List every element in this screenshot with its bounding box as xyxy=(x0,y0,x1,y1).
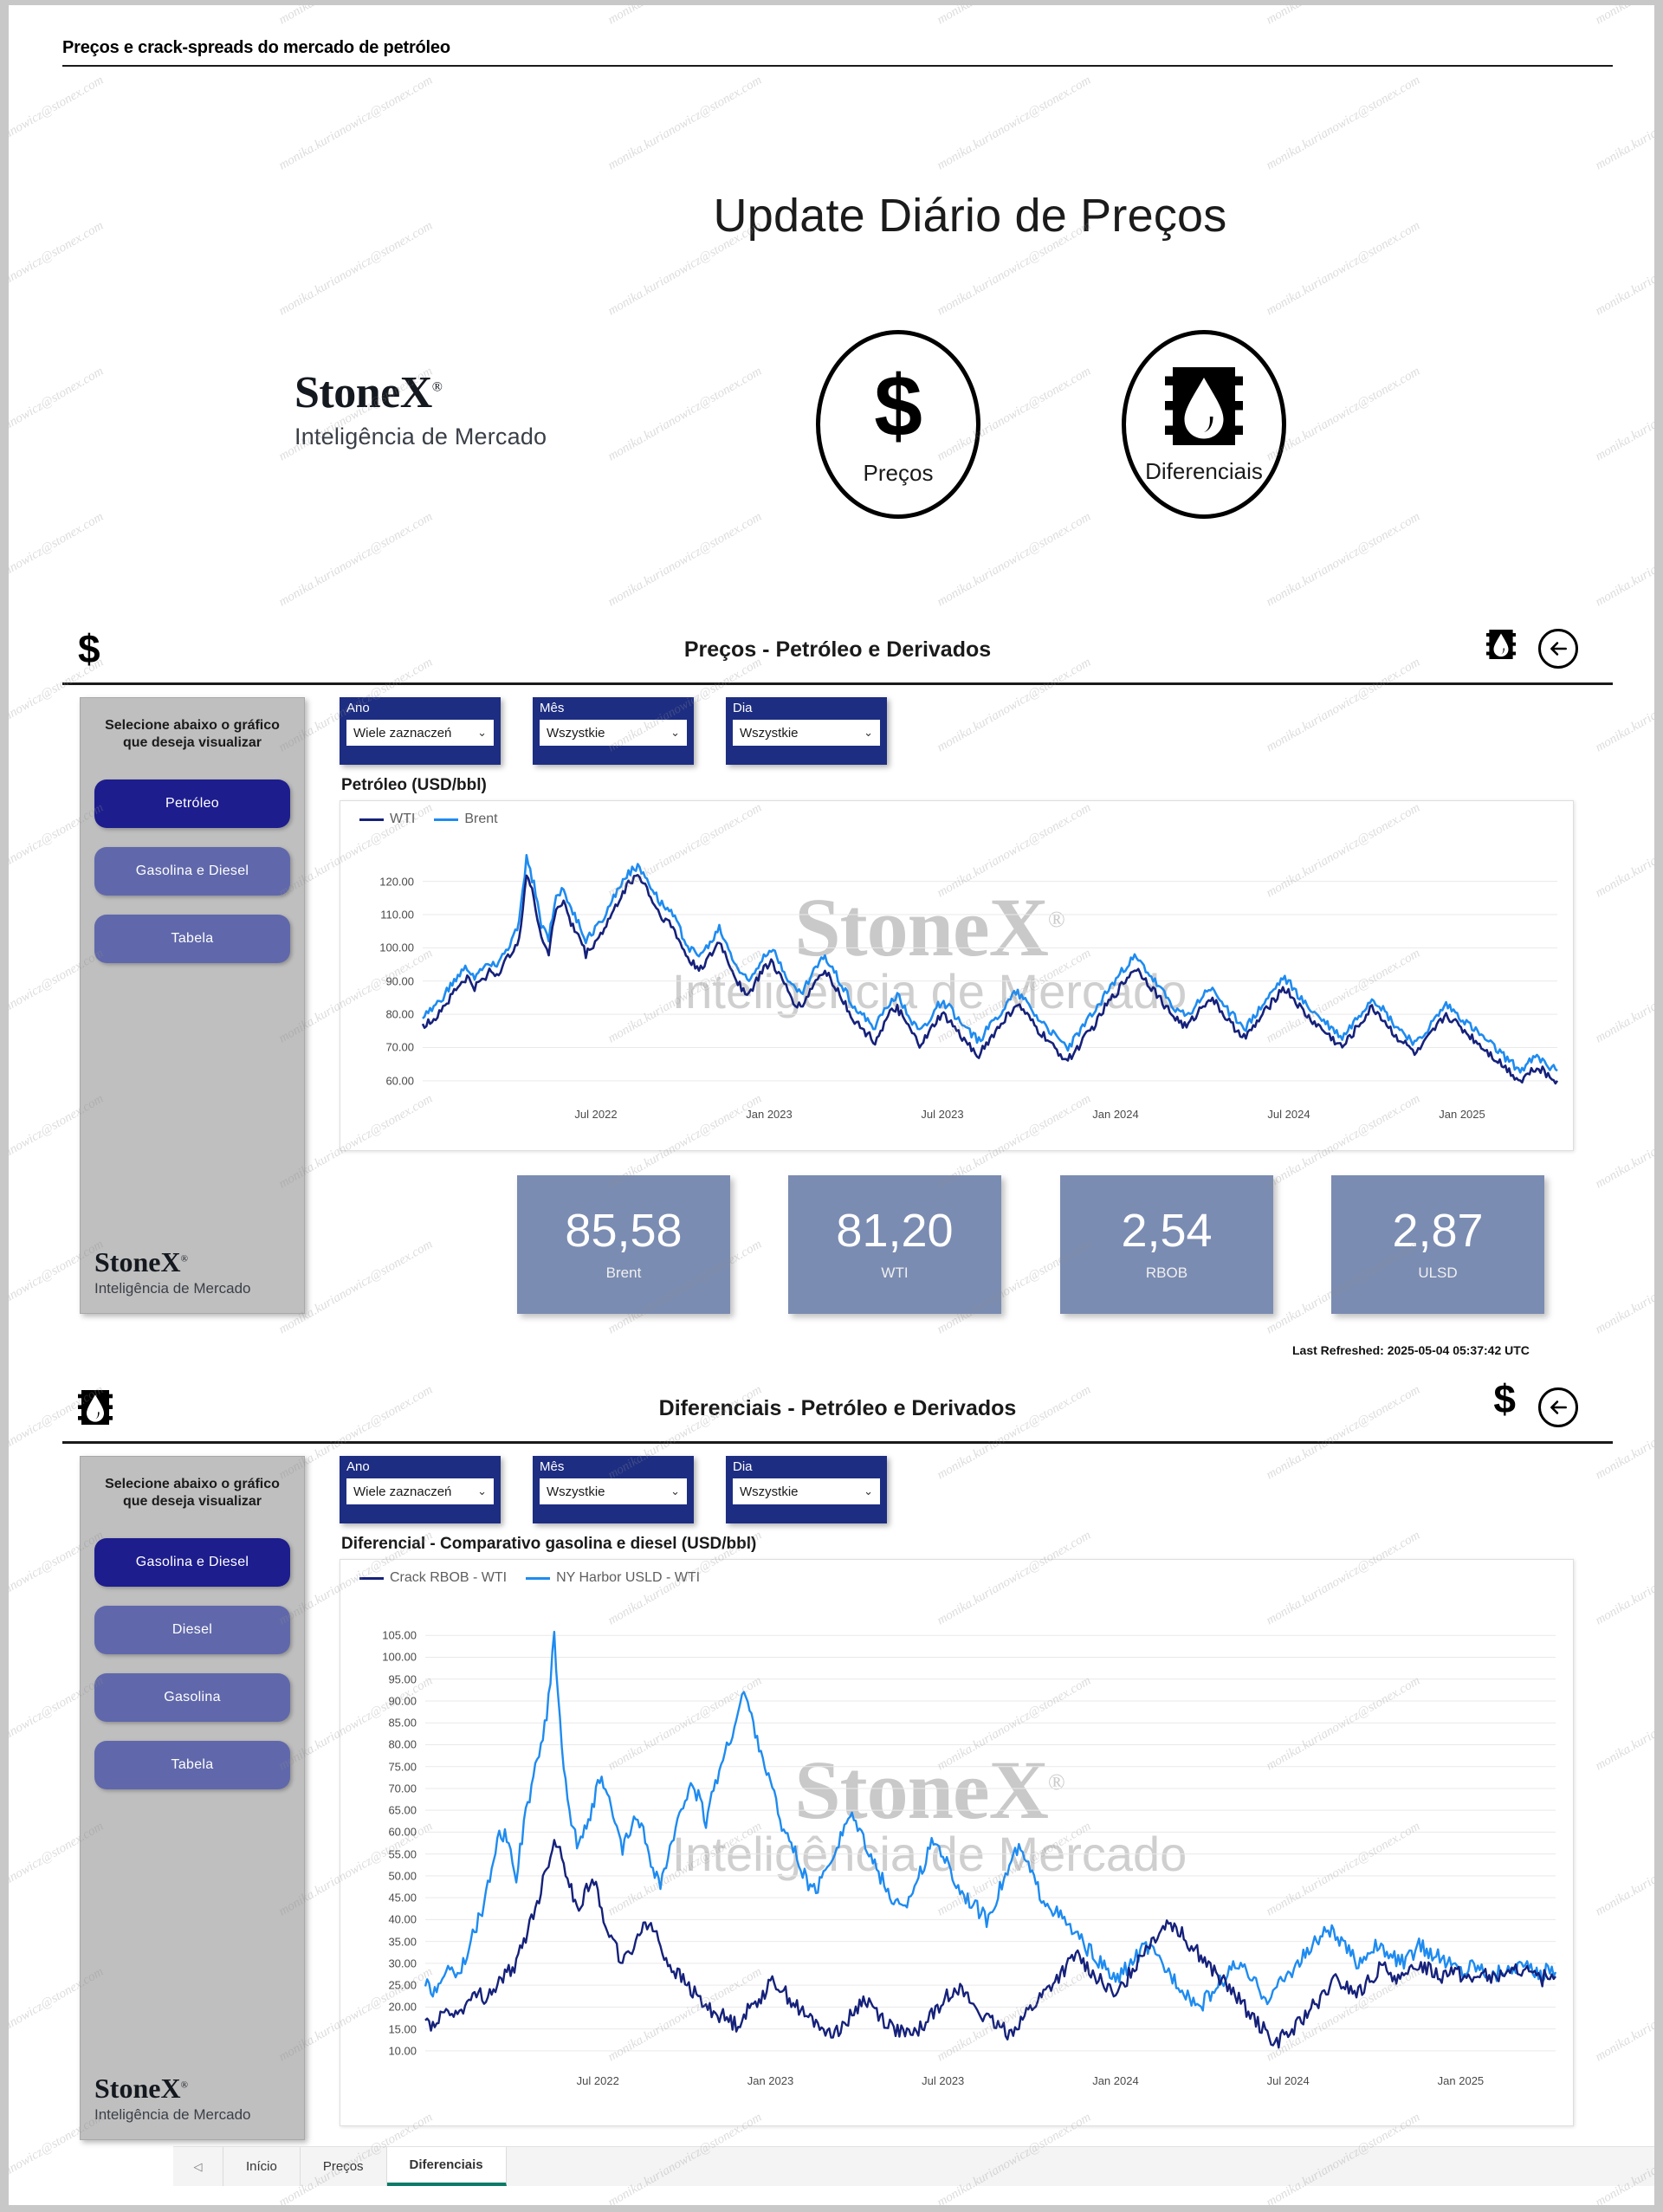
kpi-wti-label: WTI xyxy=(881,1264,908,1282)
sidebar-item-gasolina-e-diesel-label: Gasolina e Diesel xyxy=(136,863,249,879)
x-axis-tick-label: Jan 2023 xyxy=(746,1108,793,1121)
y-axis-tick-label: 75.00 xyxy=(347,1760,417,1773)
x-axis-tick-label: Jan 2023 xyxy=(747,2074,794,2087)
y-axis-tick-label: 30.00 xyxy=(347,1957,417,1969)
legend-item-wti[interactable]: WTI xyxy=(359,812,415,827)
y-axis-tick-label: 50.00 xyxy=(347,1869,417,1882)
sidebar-precos-title: Selecione abaixo o gráfico que deseja vi… xyxy=(94,717,290,752)
sidebar-brand-registered: ® xyxy=(181,1253,188,1264)
filter-ano-diferenciais-label: Ano xyxy=(346,1459,494,1474)
document-header: Preços e crack-spreads do mercado de pet… xyxy=(62,38,1613,67)
filter-mes-precos-select[interactable]: Wszystkie ⌄ xyxy=(540,720,687,746)
sidebar-diferenciais: Selecione abaixo o gráfico que deseja vi… xyxy=(80,1456,305,2140)
filter-dia-diferenciais-select[interactable]: Wszystkie ⌄ xyxy=(733,1478,880,1504)
watermark-text: monika.kurianowicz@stonex.com xyxy=(9,5,107,28)
y-axis-tick-label: 60.00 xyxy=(347,1826,417,1839)
x-axis-tick-label: Jul 2022 xyxy=(574,1108,617,1121)
cover-title-text: Update Diário de Preços xyxy=(714,189,1227,243)
y-axis-tick-label: 90.00 xyxy=(347,1694,417,1707)
legend-swatch-brent xyxy=(434,818,458,821)
sidebar-brand-subtitle: Inteligência de Mercado xyxy=(94,2106,290,2124)
x-axis-tick-label: Jul 2023 xyxy=(921,1108,963,1121)
watermark-text: monika.kurianowicz@stonex.com xyxy=(1593,510,1654,611)
watermark-text: monika.kurianowicz@stonex.com xyxy=(935,74,1094,174)
legend-item-brent[interactable]: Brent xyxy=(434,812,497,827)
brand-name-text: StoneX xyxy=(294,368,432,417)
filter-mes-diferenciais: Mês Wszystkie ⌄ xyxy=(533,1456,694,1523)
section-precos-title: Preços - Petróleo e Derivados xyxy=(684,637,991,663)
chevron-down-icon: ⌄ xyxy=(670,1484,680,1498)
y-axis-tick-label: 10.00 xyxy=(347,2044,417,2057)
chart-series-line xyxy=(425,1632,1556,2010)
filter-mes-precos-label: Mês xyxy=(540,701,687,715)
legend-item-crack-rbob-wti[interactable]: Crack RBOB - WTI xyxy=(359,1570,507,1586)
y-axis-tick-label: 100.00 xyxy=(347,1651,417,1664)
y-axis-tick-label: 35.00 xyxy=(347,1935,417,1948)
brand-wordmark: StoneX® xyxy=(294,367,442,418)
filter-dia-precos-label: Dia xyxy=(733,701,880,715)
sidebar-diferenciais-title: Selecione abaixo o gráfico que deseja vi… xyxy=(94,1476,290,1510)
cover-nav-diferenciais-button[interactable]: Diferenciais xyxy=(1122,330,1286,519)
filter-ano-precos-value: Wiele zaznaczeń xyxy=(353,726,451,741)
sidebar-item-gasolina-e-diesel-label: Gasolina e Diesel xyxy=(136,1555,249,1570)
sidebar-item-tabela[interactable]: Tabela xyxy=(94,915,290,963)
y-axis-tick-label: 100.00 xyxy=(345,941,414,954)
cover-title: Update Diário de Preços xyxy=(9,189,1654,243)
y-axis-tick-label: 40.00 xyxy=(347,1913,417,1926)
report-page: Preços e crack-spreads do mercado de pet… xyxy=(9,5,1654,2205)
sidebar-item-gasolina-label: Gasolina xyxy=(164,1690,221,1705)
legend-item-ny-harbor-usld-wti[interactable]: NY Harbor USLD - WTI xyxy=(526,1570,700,1586)
filter-dia-diferenciais-label: Dia xyxy=(733,1459,880,1474)
watermark-text: monika.kurianowicz@stonex.com xyxy=(1264,365,1423,465)
filter-mes-diferenciais-label: Mês xyxy=(540,1459,687,1474)
y-axis-tick-label: 15.00 xyxy=(347,2022,417,2035)
sidebar-brand-name: StoneX xyxy=(94,1246,181,1277)
kpi-rbob-label: RBOB xyxy=(1146,1264,1187,1282)
cover-nav-precos-label: Preços xyxy=(864,460,934,487)
chart-series-line xyxy=(425,1840,1556,2047)
y-axis-tick-label: 120.00 xyxy=(345,875,414,888)
watermark-text: monika.kurianowicz@stonex.com xyxy=(276,74,436,174)
watermark-text: monika.kurianowicz@stonex.com xyxy=(1264,5,1423,28)
x-axis-tick-label: Jan 2024 xyxy=(1092,2074,1139,2087)
chevron-down-icon: ⌄ xyxy=(670,726,680,740)
y-axis-tick-label: 20.00 xyxy=(347,2001,417,2014)
legend-swatch-ny-harbor-usld-wti xyxy=(526,1577,550,1580)
y-axis-tick-label: 105.00 xyxy=(347,1629,417,1642)
cover-nav-precos-button[interactable]: $ Preços xyxy=(816,330,980,519)
sidebar-item-petroleo[interactable]: Petróleo xyxy=(94,779,290,828)
dollar-icon: $ xyxy=(78,629,100,669)
watermark-text: monika.kurianowicz@stonex.com xyxy=(935,5,1094,28)
section-diferenciais-header: Diferenciais - Petróleo e Derivados $ xyxy=(62,1375,1613,1441)
y-axis-tick-label: 65.00 xyxy=(347,1804,417,1817)
y-axis-tick-label: 25.00 xyxy=(347,1979,417,1992)
watermark-text: monika.kurianowicz@stonex.com xyxy=(276,5,436,28)
sidebar-diferenciais-brand: StoneX® Inteligência de Mercado xyxy=(94,2073,290,2124)
filter-ano-diferenciais-select[interactable]: Wiele zaznaczeń ⌄ xyxy=(346,1478,494,1504)
tab-precos[interactable]: Preços xyxy=(301,2147,387,2186)
watermark-text: monika.kurianowicz@stonex.com xyxy=(605,5,765,28)
back-arrow-icon[interactable] xyxy=(1538,1387,1578,1427)
kpi-rbob-value: 2,54 xyxy=(1121,1207,1212,1254)
chart-diferencial-card: Crack RBOB - WTI NY Harbor USLD - WTI St… xyxy=(340,1559,1574,2126)
chart-petroleo-legend: WTI Brent xyxy=(359,812,498,827)
sidebar-item-diesel[interactable]: Diesel xyxy=(94,1606,290,1654)
y-axis-tick-label: 70.00 xyxy=(345,1041,414,1054)
legend-label-wti: WTI xyxy=(390,812,415,827)
oil-barrel-icon xyxy=(1165,365,1243,448)
brand-subtitle: Inteligência de Mercado xyxy=(294,424,658,450)
filter-dia-precos-select[interactable]: Wszystkie ⌄ xyxy=(733,720,880,746)
sidebar-brand-wordmark: StoneX® xyxy=(94,2073,290,2105)
cover-brand: StoneX® Inteligência de Mercado xyxy=(294,367,658,450)
last-refreshed-label: Last Refreshed: 2025-05-04 05:37:42 UTC xyxy=(1292,1343,1530,1357)
filter-ano-precos-select[interactable]: Wiele zaznaczeń ⌄ xyxy=(346,720,494,746)
sidebar-item-gasolina-e-diesel[interactable]: Gasolina e Diesel xyxy=(94,847,290,896)
section-diferenciais-title: Diferenciais - Petróleo e Derivados xyxy=(659,1396,1017,1421)
filter-ano-diferenciais: Ano Wiele zaznaczeń ⌄ xyxy=(340,1456,501,1523)
watermark-text: monika.kurianowicz@stonex.com xyxy=(605,510,765,611)
sidebar-item-gasolina[interactable]: Gasolina xyxy=(94,1673,290,1722)
sidebar-item-tabela-label: Tabela xyxy=(171,931,214,947)
tab-inicio[interactable]: Início xyxy=(223,2147,301,2186)
watermark-text: monika.kurianowicz@stonex.com xyxy=(1593,74,1654,174)
sidebar-precos-brand: StoneX® Inteligência de Mercado xyxy=(94,1246,290,1297)
kpi-ulsd: 2,87 ULSD xyxy=(1331,1175,1544,1314)
y-axis-tick-label: 90.00 xyxy=(345,974,414,987)
y-axis-tick-label: 80.00 xyxy=(345,1008,414,1021)
dollar-icon: $ xyxy=(874,363,922,450)
y-axis-tick-label: 110.00 xyxy=(345,909,414,922)
y-axis-tick-label: 85.00 xyxy=(347,1717,417,1730)
legend-swatch-crack-rbob-wti xyxy=(359,1577,384,1580)
chart-series-line xyxy=(423,875,1557,1083)
x-axis-tick-label: Jul 2023 xyxy=(922,2074,964,2087)
x-axis-tick-label: Jul 2022 xyxy=(577,2074,619,2087)
tab-precos-label: Preços xyxy=(323,2159,364,2174)
sidebar-brand-wordmark: StoneX® xyxy=(94,1246,290,1278)
watermark-text: monika.kurianowicz@stonex.com xyxy=(9,365,107,465)
chart-petroleo-plot: 60.0070.0080.0090.00100.00110.00120.00Ju… xyxy=(423,855,1557,1097)
filter-dia-diferenciais: Dia Wszystkie ⌄ xyxy=(726,1456,887,1523)
legend-label-brent: Brent xyxy=(464,812,497,827)
legend-label-ny-harbor-usld-wti: NY Harbor USLD - WTI xyxy=(556,1570,700,1586)
sidebar-item-diesel-label: Diesel xyxy=(172,1622,212,1638)
filter-ano-precos-label: Ano xyxy=(346,701,494,715)
sidebar-brand-subtitle: Inteligência de Mercado xyxy=(94,1280,290,1297)
kpi-brent-label: Brent xyxy=(606,1264,642,1282)
watermark-text: monika.kurianowicz@stonex.com xyxy=(605,74,765,174)
section-precos: $ Preços - Petróleo e Derivados xyxy=(62,617,1613,1326)
kpi-wti: 81,20 WTI xyxy=(788,1175,1001,1314)
bottom-tabbar: ◁ Início Preços Diferenciais xyxy=(173,2146,1654,2186)
brand-registered-mark: ® xyxy=(432,380,443,395)
y-axis-tick-label: 70.00 xyxy=(347,1782,417,1795)
watermark-text: monika.kurianowicz@stonex.com xyxy=(935,510,1094,611)
watermark-text: monika.kurianowicz@stonex.com xyxy=(9,74,107,174)
tab-nav-prev-icon[interactable]: ◁ xyxy=(173,2147,223,2186)
chart-petroleo-title: Petróleo (USD/bbl) xyxy=(341,776,487,795)
y-axis-tick-label: 95.00 xyxy=(347,1672,417,1685)
filter-mes-diferenciais-select[interactable]: Wszystkie ⌄ xyxy=(540,1478,687,1504)
kpi-ulsd-value: 2,87 xyxy=(1392,1207,1483,1254)
sidebar-precos: Selecione abaixo o gráfico que deseja vi… xyxy=(80,697,305,1314)
tab-diferenciais-label: Diferenciais xyxy=(410,2157,483,2172)
filter-ano-diferenciais-value: Wiele zaznaczeń xyxy=(353,1484,451,1499)
x-axis-tick-label: Jul 2024 xyxy=(1267,2074,1310,2087)
sidebar-item-gasolina-e-diesel[interactable]: Gasolina e Diesel xyxy=(94,1538,290,1587)
chart-petroleo-card: WTI Brent StoneX® Inteligência de Mercad… xyxy=(340,800,1574,1151)
legend-swatch-wti xyxy=(359,818,384,821)
tab-nav-prev-glyph: ◁ xyxy=(194,2160,203,2174)
chevron-down-icon: ⌄ xyxy=(477,726,487,740)
y-axis-tick-label: 45.00 xyxy=(347,1892,417,1905)
filter-mes-precos: Mês Wszystkie ⌄ xyxy=(533,697,694,765)
sidebar-item-petroleo-label: Petróleo xyxy=(165,796,219,812)
y-axis-tick-label: 60.00 xyxy=(345,1074,414,1087)
filter-dia-diferenciais-value: Wszystkie xyxy=(740,1484,799,1499)
filter-dia-precos-value: Wszystkie xyxy=(740,726,799,741)
sidebar-brand-registered: ® xyxy=(181,2079,188,2090)
document-header-rule xyxy=(62,65,1613,67)
y-axis-tick-label: 80.00 xyxy=(347,1738,417,1751)
document-header-title: Preços e crack-spreads do mercado de pet… xyxy=(62,38,1613,65)
oil-barrel-icon xyxy=(78,1387,113,1432)
oil-barrel-icon[interactable] xyxy=(1486,627,1516,666)
watermark-text: monika.kurianowicz@stonex.com xyxy=(1593,5,1654,28)
sidebar-item-tabela-label: Tabela xyxy=(171,1757,214,1773)
x-axis-tick-label: Jul 2024 xyxy=(1267,1108,1310,1121)
watermark-text: monika.kurianowicz@stonex.com xyxy=(1264,510,1423,611)
chevron-down-icon: ⌄ xyxy=(864,1484,873,1498)
tab-inicio-label: Início xyxy=(246,2159,277,2174)
tab-diferenciais[interactable]: Diferenciais xyxy=(387,2147,507,2186)
x-axis-tick-label: Jan 2025 xyxy=(1439,1108,1485,1121)
watermark-text: monika.kurianowicz@stonex.com xyxy=(1593,365,1654,465)
section-precos-body: Selecione abaixo o gráfico que deseja vi… xyxy=(62,685,1613,1326)
x-axis-tick-label: Jan 2024 xyxy=(1092,1108,1139,1121)
section-diferenciais: Diferenciais - Petróleo e Derivados $ Se… xyxy=(62,1375,1613,2145)
chart-diferencial-legend: Crack RBOB - WTI NY Harbor USLD - WTI xyxy=(359,1570,700,1586)
filter-mes-diferenciais-value: Wszystkie xyxy=(547,1484,605,1499)
back-arrow-icon[interactable] xyxy=(1538,629,1578,669)
watermark-text: monika.kurianowicz@stonex.com xyxy=(1264,74,1423,174)
filter-dia-precos: Dia Wszystkie ⌄ xyxy=(726,697,887,765)
watermark-text: monika.kurianowicz@stonex.com xyxy=(276,510,436,611)
filter-ano-precos: Ano Wiele zaznaczeń ⌄ xyxy=(340,697,501,765)
kpi-brent-value: 85,58 xyxy=(565,1207,682,1254)
watermark-text: monika.kurianowicz@stonex.com xyxy=(9,510,107,611)
sidebar-brand-name: StoneX xyxy=(94,2073,181,2104)
y-axis-tick-label: 55.00 xyxy=(347,1847,417,1860)
x-axis-tick-label: Jan 2025 xyxy=(1438,2074,1485,2087)
chart-diferencial-title: Diferencial - Comparativo gasolina e die… xyxy=(341,1535,756,1554)
chart-diferencial-plot: 10.0015.0020.0025.0030.0035.0040.0045.00… xyxy=(425,1614,1556,2064)
section-diferenciais-body: Selecione abaixo o gráfico que deseja vi… xyxy=(62,1444,1613,2145)
chevron-down-icon: ⌄ xyxy=(477,1484,487,1498)
chevron-down-icon: ⌄ xyxy=(864,726,873,740)
kpi-ulsd-label: ULSD xyxy=(1418,1264,1457,1282)
sidebar-item-tabela[interactable]: Tabela xyxy=(94,1741,290,1789)
kpi-brent: 85,58 Brent xyxy=(517,1175,730,1314)
section-precos-header: $ Preços - Petróleo e Derivados xyxy=(62,617,1613,682)
dollar-icon[interactable]: $ xyxy=(1493,1379,1516,1419)
filter-mes-precos-value: Wszystkie xyxy=(547,726,605,741)
kpi-rbob: 2,54 RBOB xyxy=(1060,1175,1273,1314)
cover-nav-diferenciais-label: Diferenciais xyxy=(1145,458,1263,485)
kpi-wti-value: 81,20 xyxy=(836,1207,953,1254)
legend-label-crack-rbob-wti: Crack RBOB - WTI xyxy=(390,1570,507,1586)
